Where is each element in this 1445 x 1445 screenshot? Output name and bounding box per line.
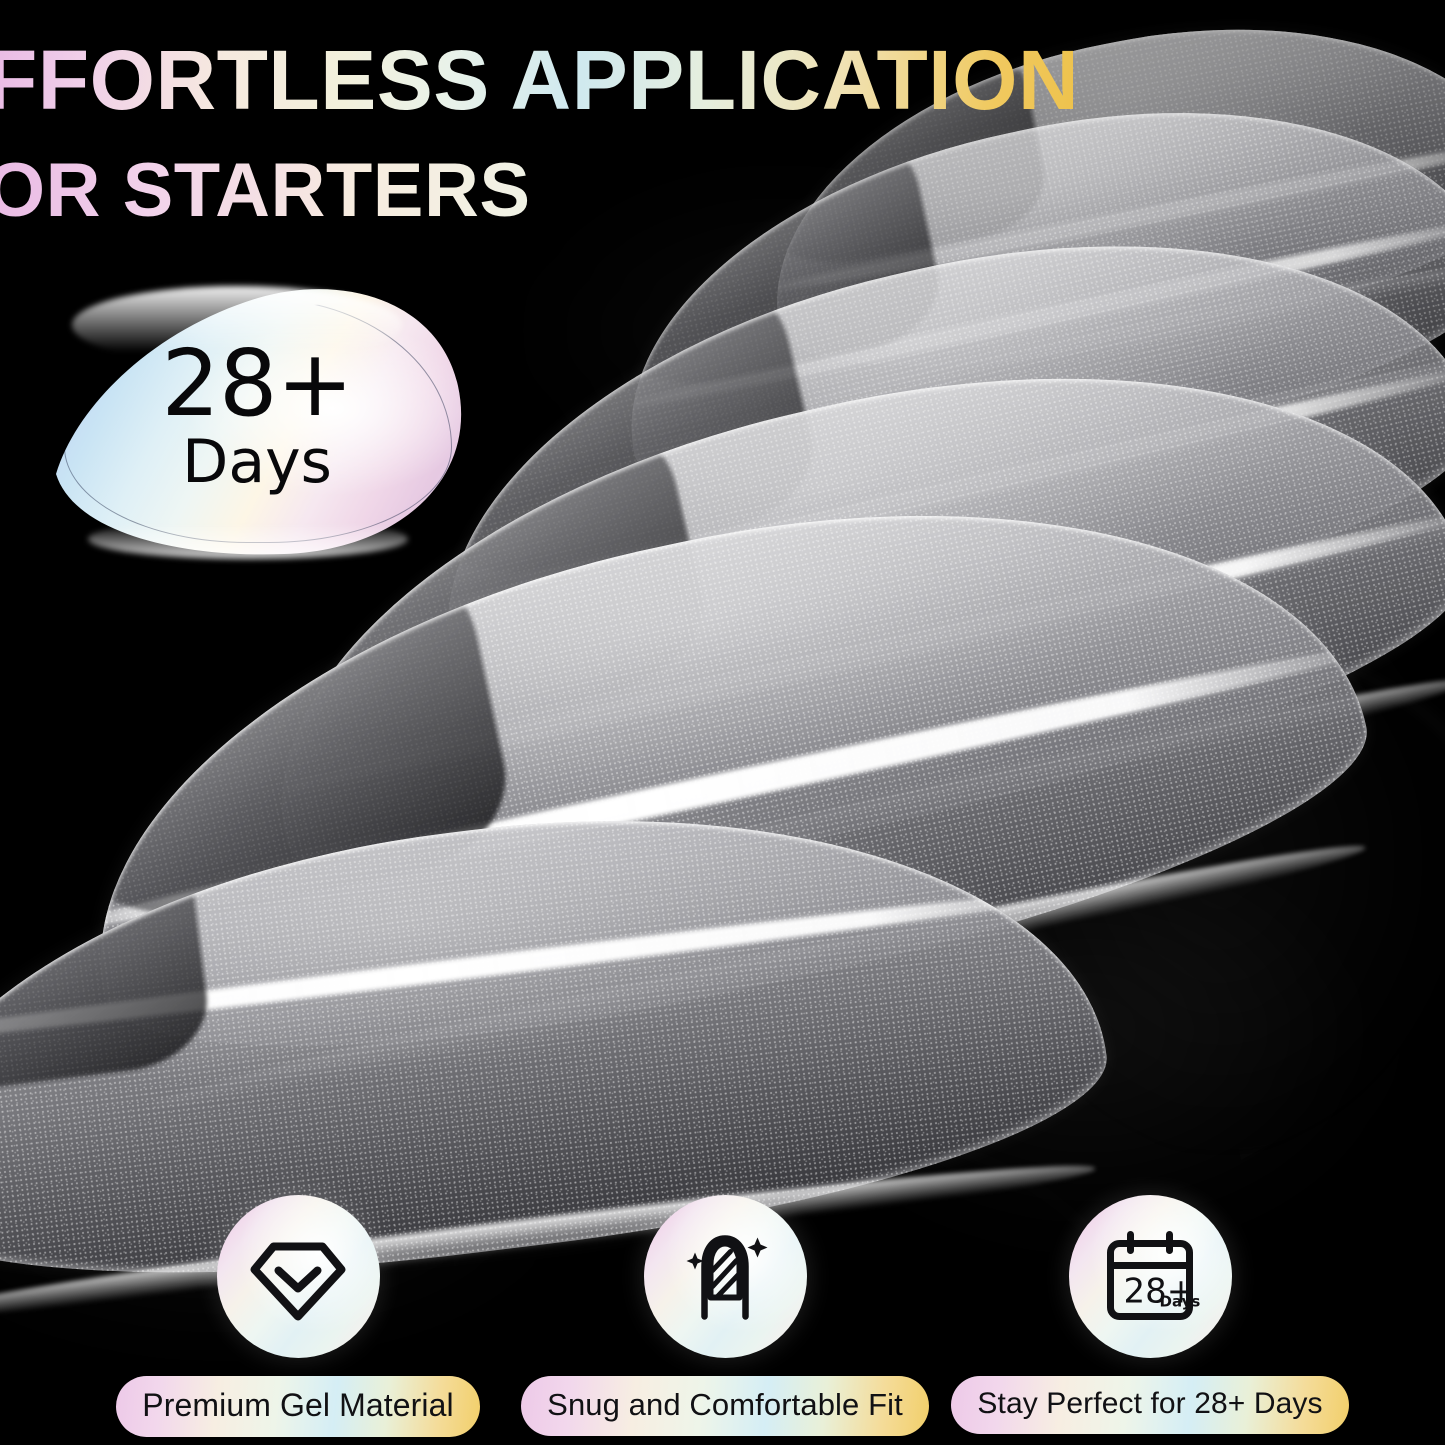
- calendar-28-days-icon: 28+ Days: [1098, 1224, 1203, 1329]
- headline: FFORTLESS APPLICATION OR STARTERS: [0, 36, 1079, 232]
- feature-icon-circle: [644, 1195, 807, 1358]
- feature-icon-circle: [217, 1195, 380, 1358]
- feature-icon-circle: 28+ Days: [1069, 1195, 1232, 1358]
- feature-item-snug-comfortable-fit: Snug and Comfortable Fit: [505, 1195, 945, 1436]
- feature-label-pill: Premium Gel Material: [116, 1376, 479, 1437]
- feature-label-pill: Stay Perfect for 28+ Days: [951, 1376, 1348, 1434]
- product-marketing-image: FFORTLESS APPLICATION OR STARTERS 28+ Da…: [0, 0, 1445, 1445]
- headline-line-2: OR STARTERS: [0, 151, 1079, 232]
- feature-row: Premium Gel Material Snug and Comfortabl…: [0, 1195, 1445, 1445]
- badge-bottom-gloss: [88, 519, 408, 559]
- badge-top-gloss: [72, 286, 402, 364]
- days-badge: 28+ Days: [48, 282, 466, 557]
- feature-label-pill: Snug and Comfortable Fit: [521, 1376, 929, 1436]
- headline-line-1: FFORTLESS APPLICATION: [0, 36, 1079, 125]
- gem-check-icon: [246, 1224, 351, 1329]
- feature-item-premium-gel-material: Premium Gel Material: [78, 1195, 518, 1437]
- nail-sparkle-icon: [673, 1224, 778, 1329]
- feature-item-stay-perfect-28-days: 28+ Days Stay Perfect for 28+ Days: [930, 1195, 1370, 1434]
- calendar-unit: Days: [1160, 1292, 1201, 1310]
